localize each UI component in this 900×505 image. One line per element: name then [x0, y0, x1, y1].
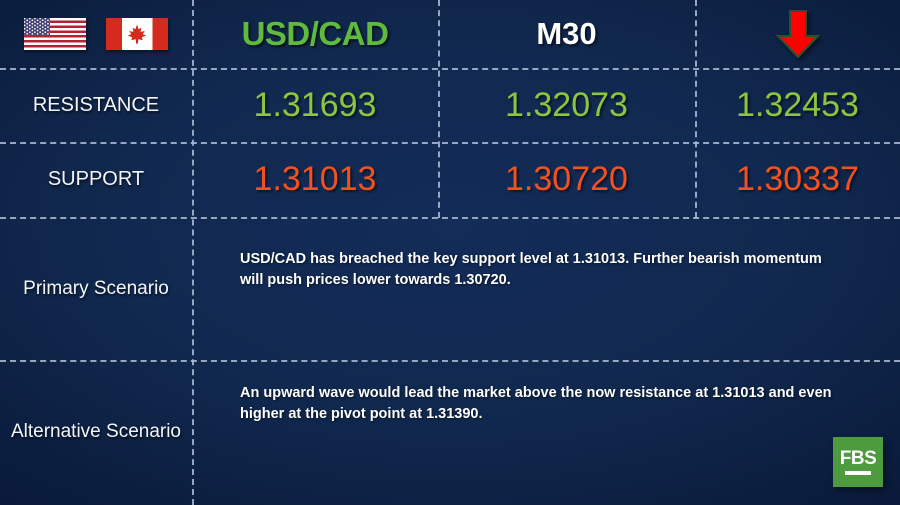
- divider-resistance-support: [0, 142, 900, 144]
- primary-scenario-text: USD/CAD has breached the key support lev…: [240, 249, 840, 291]
- fbs-logo-underline: [845, 471, 871, 475]
- fbs-logo-text: FBS: [840, 449, 877, 468]
- resistance-value-2-text: 1.32073: [505, 86, 628, 125]
- timeframe-cell: M30: [438, 0, 695, 68]
- resistance-value-1: 1.31693: [192, 68, 438, 142]
- flags-cell: [0, 0, 192, 68]
- resistance-value-2: 1.32073: [438, 68, 695, 142]
- divider-column-2-3: [695, 0, 697, 218]
- support-row-label: SUPPORT: [0, 142, 192, 216]
- resistance-value-3-text: 1.32453: [736, 86, 859, 125]
- primary-scenario-label: Primary Scenario: [0, 218, 192, 360]
- resistance-label-text: RESISTANCE: [33, 93, 159, 117]
- divider-header-resistance: [0, 68, 900, 70]
- divider-column-1-2: [438, 0, 440, 218]
- united-states-flag-icon: [24, 18, 86, 50]
- forex-signal-card: USD/CAD M30 RESISTANCE 1.31693 1.32073 1…: [0, 0, 900, 505]
- currency-pair-cell: USD/CAD: [192, 0, 438, 68]
- canada-flag-icon: [106, 18, 168, 50]
- maple-leaf-icon: [126, 23, 148, 45]
- support-value-2-text: 1.30720: [505, 160, 628, 199]
- currency-pair-title: USD/CAD: [242, 15, 389, 53]
- support-value-3: 1.30337: [695, 142, 900, 216]
- support-value-3-text: 1.30337: [736, 160, 859, 199]
- timeframe-label: M30: [536, 16, 596, 52]
- resistance-value-3: 1.32453: [695, 68, 900, 142]
- resistance-row-label: RESISTANCE: [0, 68, 192, 142]
- resistance-value-1-text: 1.31693: [254, 86, 377, 125]
- support-value-1: 1.31013: [192, 142, 438, 216]
- divider-support-primary: [0, 217, 900, 219]
- alternative-scenario-label: Alternative Scenario: [0, 360, 192, 505]
- fbs-logo: FBS: [833, 437, 883, 487]
- alternative-scenario-label-text: Alternative Scenario: [11, 421, 181, 444]
- alternative-scenario-text: An upward wave would lead the market abo…: [240, 383, 840, 425]
- divider-primary-alternative: [0, 360, 900, 362]
- divider-label-column: [192, 0, 194, 505]
- support-value-1-text: 1.31013: [254, 160, 377, 199]
- down-arrow-icon: [775, 8, 821, 60]
- trend-direction-cell: [695, 0, 900, 68]
- support-value-2: 1.30720: [438, 142, 695, 216]
- support-label-text: SUPPORT: [48, 167, 144, 191]
- primary-scenario-label-text: Primary Scenario: [23, 278, 169, 301]
